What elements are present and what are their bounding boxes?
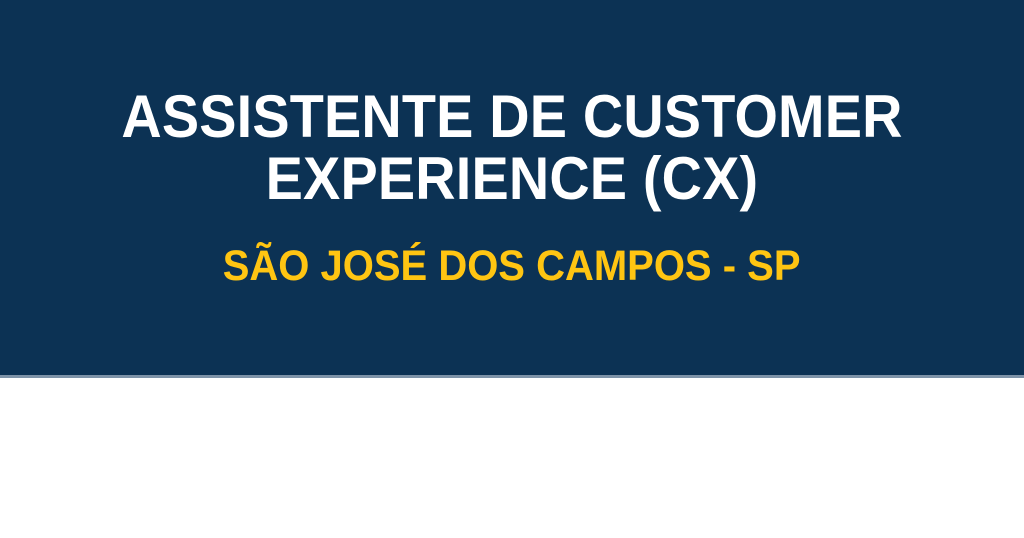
job-posting-card: Assistente de Customer Experience (CX) S… [0, 0, 1024, 538]
hero-banner: Assistente de Customer Experience (CX) S… [0, 0, 1024, 375]
job-location: São José dos Campos - SP [223, 244, 801, 289]
action-bar: Candidatar-se Emprega São José [0, 378, 1024, 538]
page-title: Assistente de Customer Experience (CX) [94, 86, 931, 211]
